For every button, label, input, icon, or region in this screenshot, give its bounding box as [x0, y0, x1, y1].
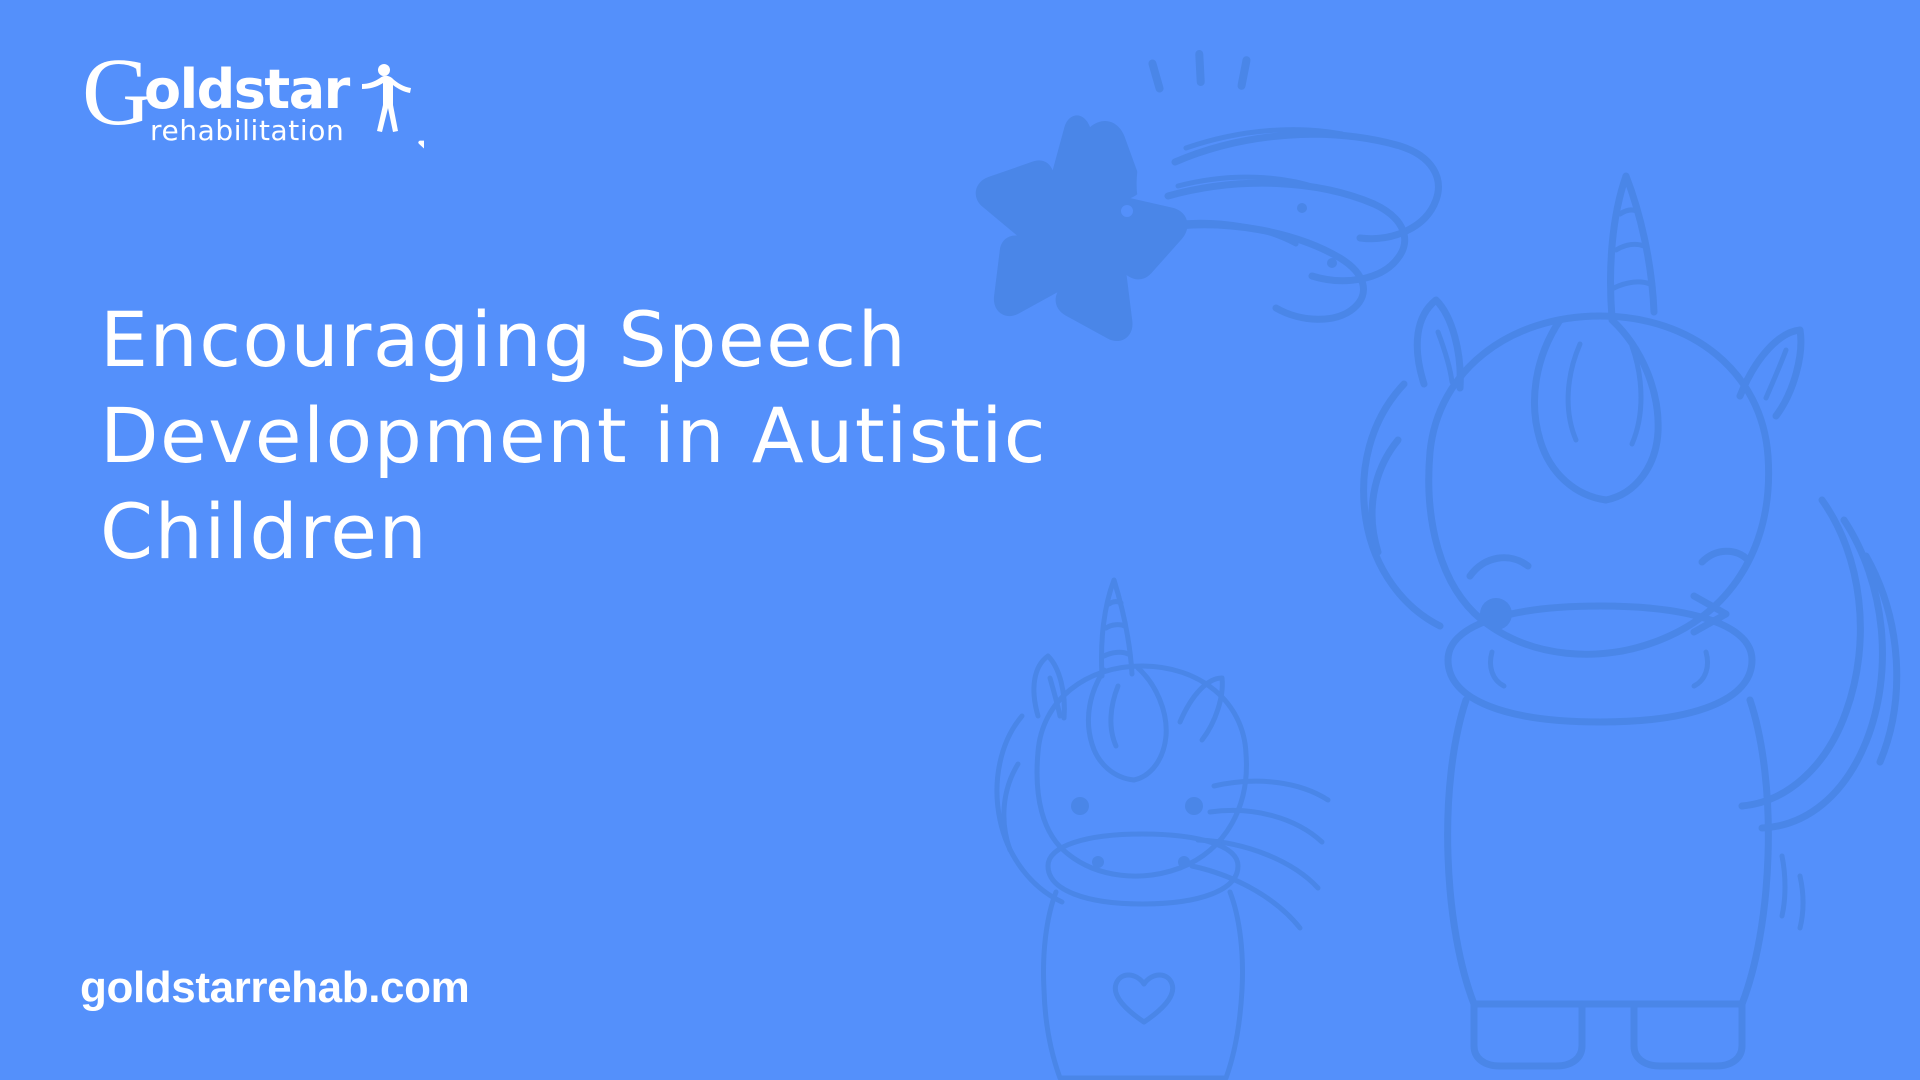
unicorn-small-icon: [997, 580, 1328, 1078]
poster-canvas: .art-line { fill:none; stroke:#4a86e8; s…: [0, 0, 1920, 1080]
logo-letter-g: G: [84, 46, 151, 145]
logo-brand-name: oldstar: [144, 58, 351, 121]
headline-line-2: Development in Autistic: [100, 388, 1120, 484]
website-url[interactable]: goldstarrehab.com: [80, 963, 469, 1013]
logo-tagline: rehabilitation: [150, 114, 344, 147]
logo-star-person-mark: [362, 64, 424, 151]
page-title: Encouraging Speech Development in Autist…: [100, 292, 1120, 580]
unicorn-large-icon: [1364, 176, 1897, 1066]
brand-logo[interactable]: G oldstar rehabilitation: [84, 46, 424, 151]
headline-line-1: Encouraging Speech: [100, 292, 1120, 388]
logo-wordmark: G oldstar rehabilitation: [84, 46, 351, 147]
headline-line-3: Children: [100, 484, 1120, 580]
